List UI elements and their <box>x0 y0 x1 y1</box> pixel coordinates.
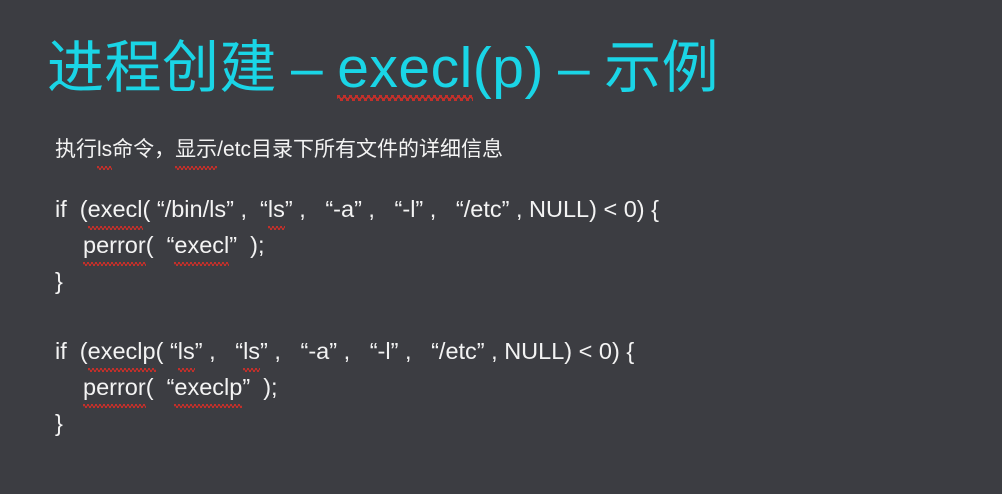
code-arg-bin-ls: “/bin/ls” <box>157 196 234 222</box>
title-segment-chinese-1: 进程创建 <box>47 36 277 100</box>
title-dash-2: – <box>558 36 590 100</box>
title-misspelled-execl: execl <box>337 33 473 103</box>
title-segment-chinese-2: 示例 <box>604 36 719 100</box>
code-sep-1-2: , <box>203 338 236 364</box>
code-quote-open-ls: “ <box>260 196 268 222</box>
description-misspelled-xianshi: 显示 <box>175 133 217 167</box>
code-sep-2: , <box>293 196 326 222</box>
code-sep-4: , <box>423 196 456 222</box>
code-quote-open-ls-a: “ <box>170 338 178 364</box>
description-misspelled-ls: ls <box>97 133 112 167</box>
code-sep-1: , <box>234 196 260 222</box>
presentation-slide: 进程创建–execl(p)–示例 执行ls命令，显示/etc目录下所有文件的详细… <box>0 0 1002 494</box>
code-quote-open-ls-b: “ <box>235 338 243 364</box>
code-sep-4-2: , <box>398 338 431 364</box>
code-arg-a-2: “-a” <box>301 338 338 364</box>
code-misspelled-perror-2: perror <box>83 369 146 405</box>
code-line-execl-if: if (execl( “/bin/ls” , “ls” , “-a” , “-l… <box>55 191 955 227</box>
code-block-execlp: if (execlp( “ls” , “ls” , “-a” , “-l” , … <box>55 333 955 441</box>
description-part-2: 命令， <box>112 138 175 161</box>
description-part-1: 执行 <box>55 138 97 161</box>
code-line-execl-closebrace: } <box>55 263 955 299</box>
code-block-separator <box>55 299 955 333</box>
code-misspelled-ls: ls <box>268 191 285 227</box>
code-sep-3: , <box>362 196 395 222</box>
code-line-execlp-if: if (execlp( “ls” , “ls” , “-a” , “-l” , … <box>55 333 955 369</box>
code-line-execlp-perror: perror( “execlp” ); <box>55 369 955 405</box>
code-misspelled-execlp: execlp <box>88 333 156 369</box>
code-sep-2-2: , <box>268 338 301 364</box>
code-arg-l-2: “-l” <box>370 338 399 364</box>
code-line-execlp-closebrace: } <box>55 405 955 441</box>
description-part-3: /etc目录下所有文件的详细信息 <box>217 138 503 161</box>
code-suffix-null-2: , NULL) < 0) { <box>485 338 635 364</box>
code-arg-etc-2: “/etc” <box>431 338 485 364</box>
code-misspelled-ls-a: ls <box>178 333 195 369</box>
code-quote-close-ls-a: ” <box>195 338 203 364</box>
description-line: 执行ls命令，显示/etc目录下所有文件的详细信息 <box>55 133 955 167</box>
code-perror-open: ( “ <box>146 232 175 258</box>
code-arg-l: “-l” <box>395 196 424 222</box>
code-misspelled-execl: execl <box>88 191 143 227</box>
code-open-paren-2: ( <box>156 338 170 364</box>
code-perror-close-2: ” ); <box>242 374 277 400</box>
code-quote-close-ls-b: ” <box>260 338 268 364</box>
code-arg-etc: “/etc” <box>456 196 510 222</box>
code-arg-a: “-a” <box>325 196 362 222</box>
code-open-paren: ( <box>143 196 157 222</box>
code-line-execl-perror: perror( “execl” ); <box>55 227 955 263</box>
code-quote-close-ls: ” <box>285 196 293 222</box>
slide-body: 执行ls命令，显示/etc目录下所有文件的详细信息 if (execl( “/b… <box>55 133 955 441</box>
code-block-execl: if (execl( “/bin/ls” , “ls” , “-a” , “-l… <box>55 191 955 299</box>
code-prefix-if-2: if ( <box>55 338 88 364</box>
code-perror-close: ” ); <box>229 232 264 258</box>
code-suffix-null: , NULL) < 0) { <box>509 196 659 222</box>
code-perror-open-2: ( “ <box>146 374 175 400</box>
page-title: 进程创建–execl(p)–示例 <box>47 33 719 103</box>
code-sep-3-2: , <box>337 338 370 364</box>
code-misspelled-perror: perror <box>83 227 146 263</box>
title-segment-paren-p: (p) <box>473 36 544 100</box>
title-dash-1: – <box>291 36 323 100</box>
code-perror-misspelled-execl: execl <box>174 227 229 263</box>
code-perror-misspelled-execlp: execlp <box>174 369 242 405</box>
code-misspelled-ls-b: ls <box>243 333 260 369</box>
code-prefix-if: if ( <box>55 196 88 222</box>
